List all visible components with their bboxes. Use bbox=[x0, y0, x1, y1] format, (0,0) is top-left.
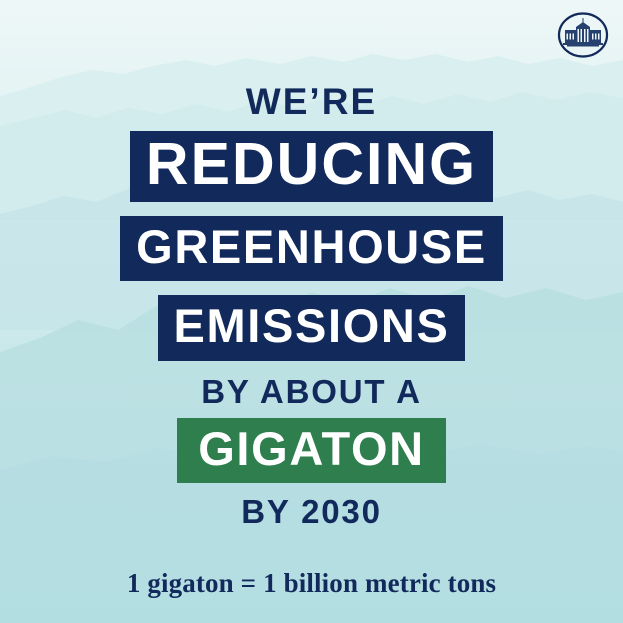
climate-emissions-social-graphic: WE’RE REDUCING GREENHOUSE EMISSIONS BY A… bbox=[0, 0, 623, 623]
footnote: 1 gigaton = 1 billion metric tons bbox=[0, 566, 623, 600]
headline-line-by-2030: BY 2030 bbox=[0, 492, 623, 532]
headline-text-greenhouse: GREENHOUSE bbox=[120, 216, 503, 281]
headline-text-by-2030: BY 2030 bbox=[241, 493, 382, 530]
headline-text-emissions: EMISSIONS bbox=[158, 295, 466, 361]
headline-line-reducing: REDUCING bbox=[0, 131, 623, 202]
headline-line-gigaton: GIGATON bbox=[0, 418, 623, 483]
headline-text-gigaton: GIGATON bbox=[177, 418, 446, 483]
white-house-seal-icon bbox=[557, 11, 609, 59]
headline-line-greenhouse: GREENHOUSE bbox=[0, 216, 623, 281]
headline-text-were: WE’RE bbox=[246, 81, 377, 122]
headline-line-were: WE’RE bbox=[0, 80, 623, 124]
headline-line-by-about-a: BY ABOUT A bbox=[0, 372, 623, 412]
headline-line-emissions: EMISSIONS bbox=[0, 295, 623, 361]
headline-text-reducing: REDUCING bbox=[130, 131, 493, 202]
headline-text-by-about-a: BY ABOUT A bbox=[201, 373, 421, 410]
